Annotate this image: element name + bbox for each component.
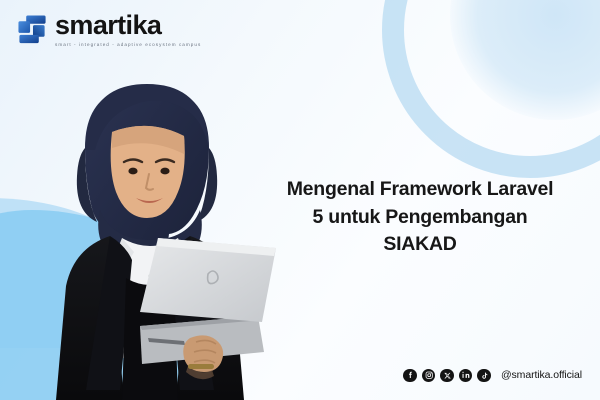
presenter-photo xyxy=(22,70,277,400)
social-footer: @smartika.official xyxy=(403,369,582,383)
headline-line-2: 5 untuk Pengembangan xyxy=(258,204,582,232)
linkedin-icon[interactable] xyxy=(459,369,473,383)
smartika-s-mark-icon xyxy=(17,14,48,45)
instagram-icon[interactable] xyxy=(422,369,436,383)
poster-canvas: smartika smart - integrated - adaptive e… xyxy=(0,0,600,400)
headline-line-3: SIAKAD xyxy=(258,231,582,259)
brand-logo: smartika smart - integrated - adaptive e… xyxy=(17,12,201,47)
top-right-ring xyxy=(382,0,600,178)
tiktok-icon[interactable] xyxy=(477,369,491,383)
top-right-glow xyxy=(450,0,600,120)
brand-name: smartika xyxy=(55,12,201,39)
headline-block: Mengenal Framework Laravel 5 untuk Penge… xyxy=(258,176,582,259)
facebook-icon[interactable] xyxy=(403,369,417,383)
social-handle: @smartika.official xyxy=(501,369,582,381)
brand-tagline: smart - integrated - adaptive ecosystem … xyxy=(55,42,201,47)
x-twitter-icon[interactable] xyxy=(440,369,454,383)
headline-line-1: Mengenal Framework Laravel xyxy=(258,176,582,204)
brand-text-block: smartika smart - integrated - adaptive e… xyxy=(55,12,201,47)
